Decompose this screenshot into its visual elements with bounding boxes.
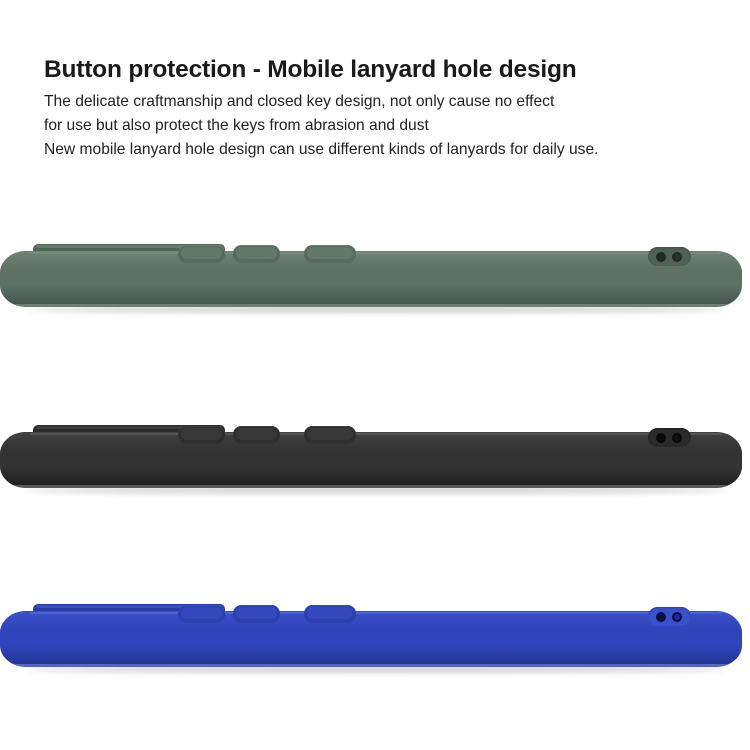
side-button-bump-1-blue bbox=[178, 605, 225, 622]
side-button-inner-2-green bbox=[236, 247, 277, 259]
case-body-blue bbox=[0, 611, 742, 667]
lanyard-hole-ring-blue bbox=[674, 614, 680, 620]
case-body-green bbox=[0, 251, 742, 307]
side-button-inner-3-blue bbox=[307, 607, 353, 619]
drop-shadow-black bbox=[26, 487, 726, 494]
side-button-bump-2-blue bbox=[233, 605, 280, 622]
case-bottom-edge-highlight-green bbox=[10, 304, 732, 307]
case-body-black bbox=[0, 432, 742, 488]
case-stage-green bbox=[0, 228, 750, 328]
side-button-inner-1-blue bbox=[181, 607, 222, 619]
case-top-edge-highlight-green bbox=[30, 252, 722, 254]
lanyard-hole-ring-black bbox=[674, 435, 680, 441]
lanyard-hole-green bbox=[648, 247, 691, 266]
case-top-edge-highlight-black bbox=[30, 433, 722, 435]
side-button-inner-3-green bbox=[307, 247, 353, 259]
case-stage-black bbox=[0, 409, 750, 509]
lanyard-hole-left-blue bbox=[656, 612, 666, 622]
product-description-block: Button protection - Mobile lanyard hole … bbox=[44, 56, 724, 162]
lanyard-hole-right-black bbox=[672, 433, 682, 443]
phone-case-green bbox=[0, 228, 750, 328]
side-button-bump-1-green bbox=[178, 245, 225, 262]
lanyard-hole-left-black bbox=[656, 433, 666, 443]
lanyard-hole-left-green bbox=[656, 252, 666, 262]
lanyard-hole-ring-green bbox=[674, 254, 680, 260]
lanyard-hole-right-green bbox=[672, 252, 682, 262]
page-title: Button protection - Mobile lanyard hole … bbox=[44, 56, 724, 84]
side-button-bump-3-green bbox=[304, 245, 356, 262]
lanyard-hole-black bbox=[648, 428, 691, 447]
case-stage-blue bbox=[0, 588, 750, 688]
drop-shadow-blue bbox=[26, 666, 726, 673]
phone-case-blue bbox=[0, 588, 750, 688]
description-line-1: The delicate craftmanship and closed key… bbox=[44, 90, 724, 114]
drop-shadow-green bbox=[26, 306, 726, 313]
side-button-bump-2-green bbox=[233, 245, 280, 262]
phone-case-black bbox=[0, 409, 750, 509]
case-bottom-edge-highlight-blue bbox=[10, 664, 732, 667]
description-line-2: for use but also protect the keys from a… bbox=[44, 114, 724, 138]
lanyard-hole-blue bbox=[648, 607, 691, 626]
case-body-shading-black bbox=[0, 432, 742, 488]
side-button-bump-1-black bbox=[178, 426, 225, 443]
case-body-shading-blue bbox=[0, 611, 742, 667]
side-button-bump-3-blue bbox=[304, 605, 356, 622]
side-button-inner-2-blue bbox=[236, 607, 277, 619]
case-bottom-edge-highlight-black bbox=[10, 485, 732, 488]
side-button-inner-1-green bbox=[181, 247, 222, 259]
side-button-bump-2-black bbox=[233, 426, 280, 443]
case-body-shading-green bbox=[0, 251, 742, 307]
side-button-bump-3-black bbox=[304, 426, 356, 443]
side-button-inner-2-black bbox=[236, 428, 277, 440]
side-button-inner-1-black bbox=[181, 428, 222, 440]
side-button-inner-3-black bbox=[307, 428, 353, 440]
description-line-3: New mobile lanyard hole design can use d… bbox=[44, 138, 724, 162]
lanyard-hole-right-blue bbox=[672, 612, 682, 622]
case-top-edge-highlight-blue bbox=[30, 612, 722, 614]
